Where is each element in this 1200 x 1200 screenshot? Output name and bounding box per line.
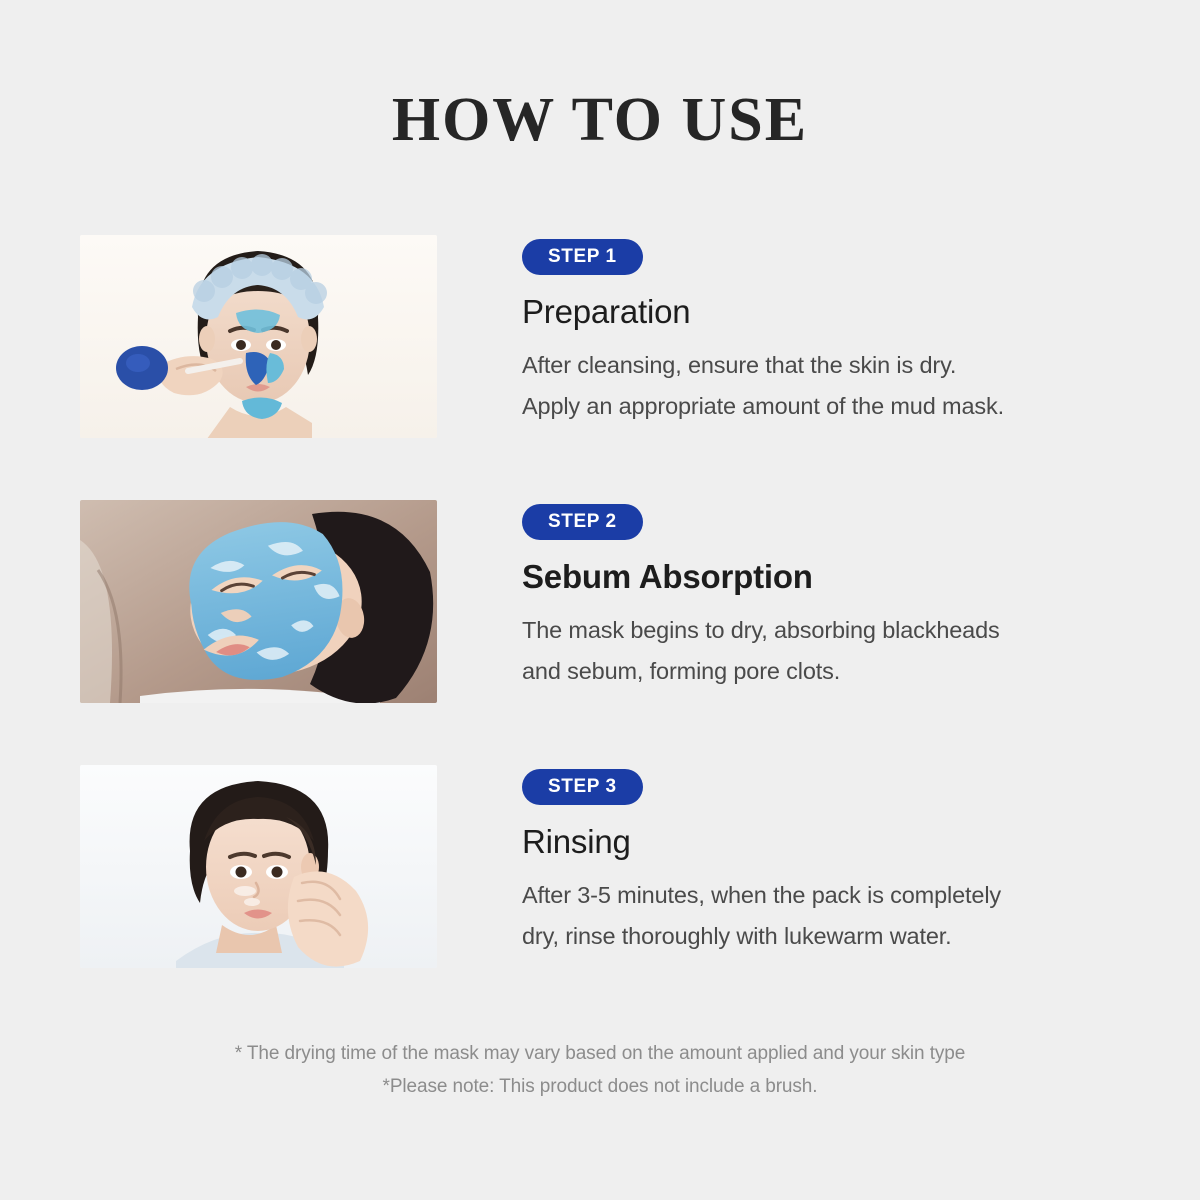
step-1-body-line: Apply an appropriate amount of the mud m… [522, 386, 1182, 428]
woman-with-clean-skin-touching-cheek-illustration [80, 765, 437, 968]
step-3-image [80, 765, 437, 968]
step-2-body: The mask begins to dry, absorbing blackh… [522, 610, 1182, 694]
footnote-no-brush: *Please note: This product does not incl… [0, 1071, 1200, 1104]
steps-list: STEP 1 Preparation After cleansing, ensu… [0, 235, 1200, 968]
step-row: STEP 2 Sebum Absorption The mask begins … [0, 500, 1200, 703]
step-1-badge: STEP 1 [522, 239, 643, 275]
step-row: STEP 3 Rinsing After 3-5 minutes, when t… [0, 765, 1200, 968]
step-1-body-line: After cleansing, ensure that the skin is… [522, 345, 1182, 387]
step-2-text: STEP 2 Sebum Absorption The mask begins … [437, 500, 1200, 693]
woman-applying-mud-mask-with-spatula-illustration [80, 235, 437, 438]
woman-lying-with-full-blue-mask-illustration [80, 500, 437, 703]
how-to-use-page: HOW TO USE [0, 0, 1200, 1200]
step-3-body-line: After 3-5 minutes, when the pack is comp… [522, 875, 1182, 917]
footnote-drying-time: * The drying time of the mask may vary b… [0, 1038, 1200, 1071]
step-3-badge: STEP 3 [522, 769, 643, 805]
step-2-badge: STEP 2 [522, 504, 643, 540]
step-3-body: After 3-5 minutes, when the pack is comp… [522, 875, 1182, 959]
step-3-text: STEP 3 Rinsing After 3-5 minutes, when t… [437, 765, 1200, 958]
footnotes: * The drying time of the mask may vary b… [0, 1038, 1200, 1103]
step-3-heading: Rinsing [522, 822, 1200, 862]
step-2-body-line: and sebum, forming pore clots. [522, 651, 1182, 693]
step-3-body-line: dry, rinse thoroughly with lukewarm wate… [522, 916, 1182, 958]
step-1-image [80, 235, 437, 438]
step-row: STEP 1 Preparation After cleansing, ensu… [0, 235, 1200, 438]
step-1-heading: Preparation [522, 292, 1200, 332]
step-2-body-line: The mask begins to dry, absorbing blackh… [522, 610, 1182, 652]
step-1-body: After cleansing, ensure that the skin is… [522, 345, 1182, 429]
step-1-text: STEP 1 Preparation After cleansing, ensu… [437, 235, 1200, 428]
step-2-heading: Sebum Absorption [522, 557, 1200, 597]
step-2-image [80, 500, 437, 703]
page-title: HOW TO USE [0, 88, 1200, 153]
